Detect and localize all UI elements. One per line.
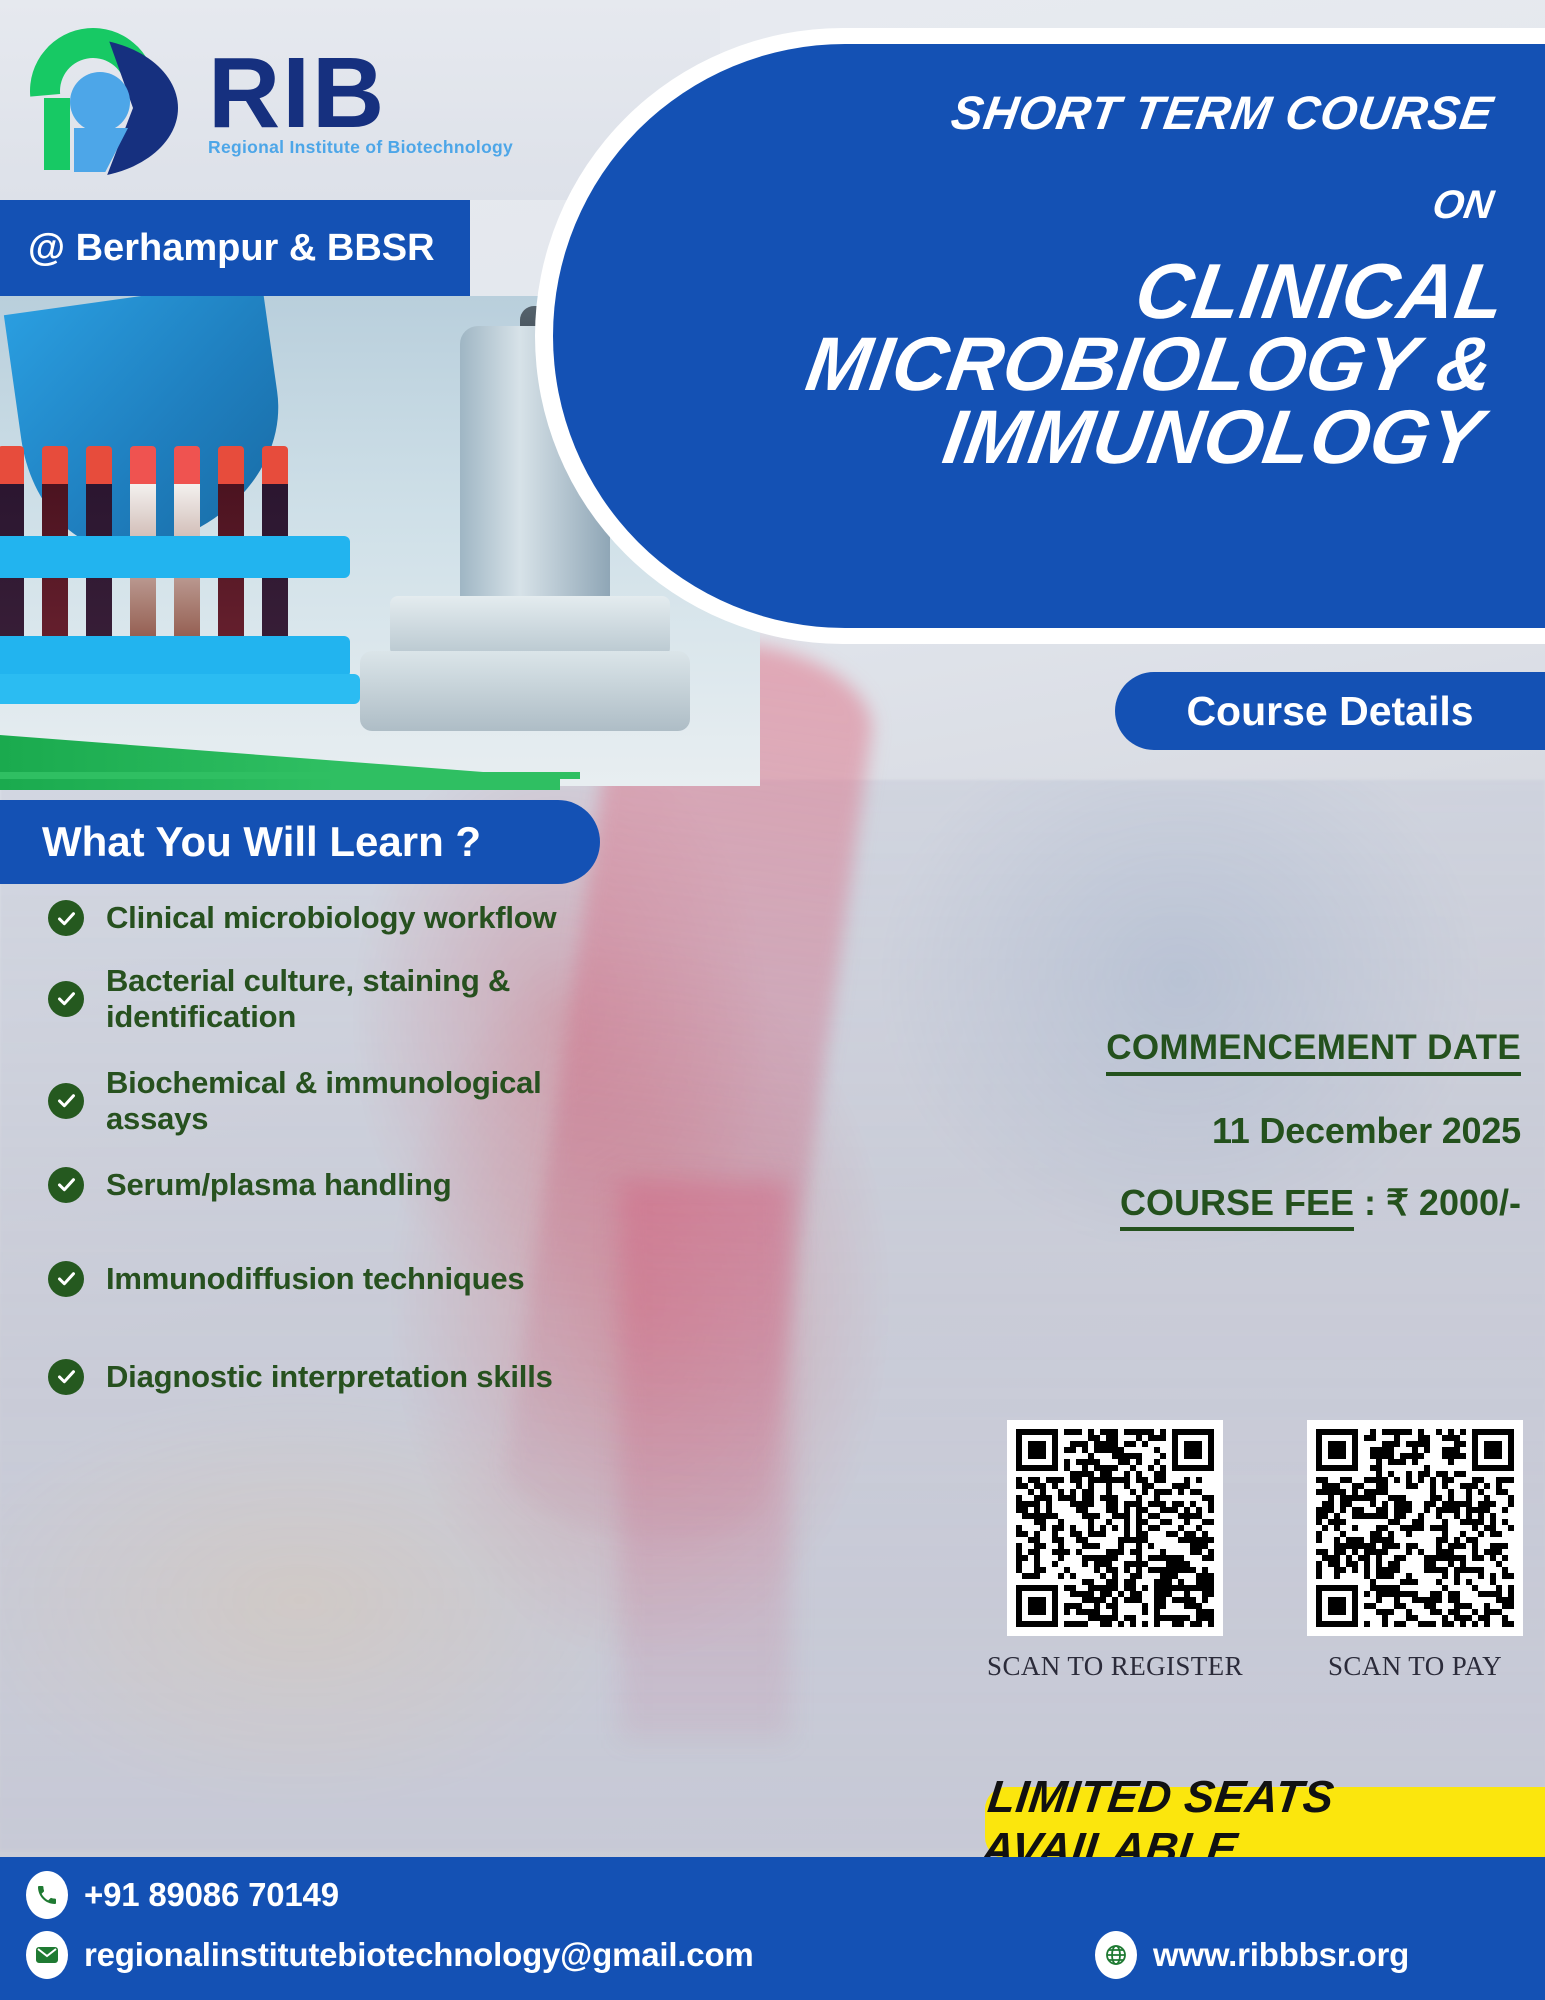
hero-title-line-1: CLINICAL: [559, 254, 1511, 329]
list-item-label: Immunodiffusion techniques: [106, 1261, 524, 1297]
qr-codes-area: SCAN TO REGISTER SCAN TO PAY: [903, 1420, 1523, 1682]
list-item: Biochemical & immunological assays: [48, 1065, 688, 1137]
hero-panel: SHORT TERM COURSE ON CLINICAL MICROBIOLO…: [553, 44, 1545, 628]
footer-bar: +91 89086 70149 regionalinstitutebiotech…: [0, 1857, 1545, 2000]
hero-kicker: SHORT TERM COURSE: [549, 88, 1497, 137]
check-circle-icon: [48, 900, 84, 936]
envelope-icon: [26, 1931, 68, 1979]
course-fee-label: COURSE FEE: [1120, 1182, 1354, 1231]
footer-email[interactable]: regionalinstitutebiotechnology@gmail.com: [26, 1931, 754, 1979]
footer-website[interactable]: www.ribbbsr.org: [1095, 1931, 1409, 1979]
list-item-label: Clinical microbiology workflow: [106, 900, 556, 936]
list-item-label: Bacterial culture, staining & identifica…: [106, 963, 576, 1035]
list-item: Diagnostic interpretation skills: [48, 1359, 688, 1395]
check-circle-icon: [48, 1083, 84, 1119]
hero-title-line-3: IMMUNOLOGY: [536, 402, 1488, 475]
qr-code-icon[interactable]: [1007, 1420, 1223, 1636]
course-details-header: Course Details: [1115, 672, 1545, 750]
rib-logo-icon: [30, 24, 190, 179]
qr-register-caption: SCAN TO REGISTER: [987, 1651, 1243, 1682]
check-circle-icon: [48, 1359, 84, 1395]
limited-seats-banner: LIMITED SEATS AVAILABLE: [985, 1787, 1545, 1859]
learn-section-label: What You Will Learn ?: [42, 818, 481, 866]
hero-title-line-2: MICROBIOLOGY &: [547, 329, 1499, 402]
footer-phone-label: +91 89086 70149: [84, 1876, 339, 1914]
list-item: Immunodiffusion techniques: [48, 1261, 688, 1297]
list-item: Clinical microbiology workflow: [48, 900, 688, 936]
footer-phone[interactable]: +91 89086 70149: [26, 1871, 339, 1919]
globe-icon: [1095, 1931, 1137, 1979]
rib-logo: RIB Regional Institute of Biotechnology: [30, 24, 513, 179]
check-circle-icon: [48, 981, 84, 1017]
footer-email-label: regionalinstitutebiotechnology@gmail.com: [84, 1936, 754, 1974]
qr-code-icon[interactable]: [1307, 1420, 1523, 1636]
green-divider-line: [0, 772, 580, 779]
list-item-label: Serum/plasma handling: [106, 1167, 452, 1203]
course-details-label: Course Details: [1186, 688, 1473, 735]
footer-website-label: www.ribbbsr.org: [1153, 1936, 1409, 1974]
logo-acronym: RIB: [208, 46, 513, 141]
course-fee-value: ₹ 2000/-: [1386, 1182, 1521, 1223]
check-circle-icon: [48, 1167, 84, 1203]
commencement-date-value: 11 December 2025: [901, 1110, 1521, 1152]
location-badge-label: @ Berhampur & BBSR: [28, 227, 435, 270]
course-fee-row: COURSE FEE : ₹ 2000/-: [901, 1182, 1521, 1231]
qr-pay-caption: SCAN TO PAY: [1307, 1651, 1523, 1682]
course-fee-separator: :: [1354, 1182, 1386, 1223]
qr-register-block[interactable]: SCAN TO REGISTER: [987, 1420, 1243, 1682]
commencement-date-label: COMMENCEMENT DATE: [1106, 1028, 1521, 1076]
list-item: Serum/plasma handling: [48, 1167, 688, 1203]
hero-on-word: ON: [549, 183, 1496, 228]
hero-course-title: CLINICAL MICROBIOLOGY & IMMUNOLOGY: [536, 254, 1511, 475]
qr-pay-block[interactable]: SCAN TO PAY: [1307, 1420, 1523, 1682]
learn-section-header: What You Will Learn ?: [0, 800, 600, 884]
list-item-label: Diagnostic interpretation skills: [106, 1359, 553, 1395]
list-item: Bacterial culture, staining & identifica…: [48, 963, 688, 1035]
learn-items-list: Clinical microbiology workflow Bacterial…: [48, 900, 688, 1422]
check-circle-icon: [48, 1261, 84, 1297]
location-badge: @ Berhampur & BBSR: [0, 200, 470, 296]
phone-icon: [26, 1871, 68, 1919]
list-item-label: Biochemical & immunological assays: [106, 1065, 586, 1137]
course-details-block: COMMENCEMENT DATE 11 December 2025 COURS…: [901, 1028, 1521, 1231]
logo-full-name: Regional Institute of Biotechnology: [208, 137, 513, 158]
